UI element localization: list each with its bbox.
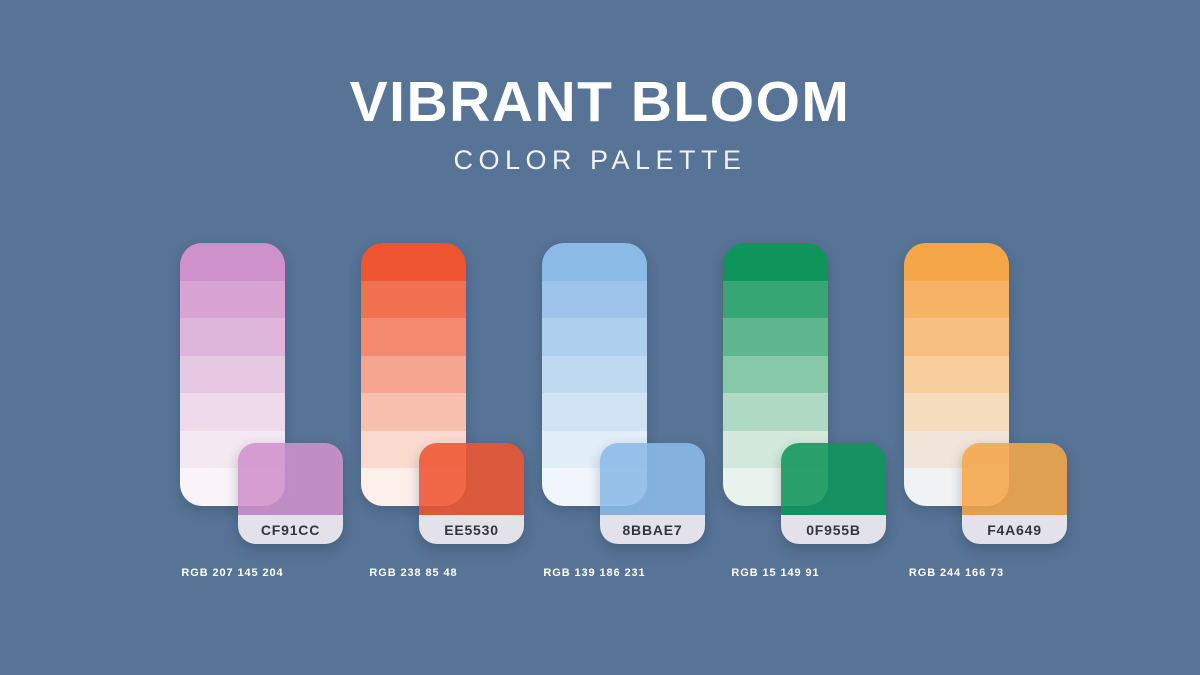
palette-column: F4A649RGB 244 166 73	[904, 243, 1085, 593]
gradient-band	[542, 393, 647, 431]
gradient-band	[542, 243, 647, 281]
gradient-band	[723, 356, 828, 394]
rgb-value-label: RGB 207 145 204	[162, 567, 303, 579]
palette-column: 8BBAE7RGB 139 186 231	[542, 243, 723, 593]
color-swatch[interactable]: 0F955B	[781, 443, 886, 544]
gradient-band	[361, 356, 466, 394]
rgb-value-label: RGB 139 186 231	[524, 567, 665, 579]
color-swatch[interactable]: EE5530	[419, 443, 524, 544]
color-swatch[interactable]: F4A649	[962, 443, 1067, 544]
gradient-band	[904, 281, 1009, 319]
swatch-color-chip	[238, 443, 343, 515]
gradient-band	[361, 243, 466, 281]
gradient-band	[904, 318, 1009, 356]
color-swatch[interactable]: CF91CC	[238, 443, 343, 544]
gradient-band	[723, 281, 828, 319]
palette-column: CF91CCRGB 207 145 204	[180, 243, 361, 593]
swatch-color-chip	[781, 443, 886, 515]
gradient-band	[723, 318, 828, 356]
gradient-band	[723, 243, 828, 281]
rgb-value-label: RGB 238 85 48	[343, 567, 484, 579]
hex-code-label: EE5530	[419, 515, 524, 544]
hex-code-label: F4A649	[962, 515, 1067, 544]
gradient-band	[904, 356, 1009, 394]
swatch-color-chip	[600, 443, 705, 515]
gradient-band	[361, 318, 466, 356]
palette-column: 0F955BRGB 15 149 91	[723, 243, 904, 593]
gradient-band	[180, 318, 285, 356]
hex-code-label: 0F955B	[781, 515, 886, 544]
gradient-band	[361, 393, 466, 431]
rgb-value-label: RGB 244 166 73	[886, 567, 1027, 579]
gradient-band	[180, 243, 285, 281]
gradient-band	[180, 393, 285, 431]
gradient-band	[180, 356, 285, 394]
gradient-band	[904, 393, 1009, 431]
rgb-value-label: RGB 15 149 91	[705, 567, 846, 579]
header: VIBRANT BLOOM COLOR PALETTE	[0, 0, 1200, 176]
swatch-color-chip	[419, 443, 524, 515]
gradient-band	[542, 356, 647, 394]
palette-column: EE5530RGB 238 85 48	[361, 243, 542, 593]
swatch-color-chip	[962, 443, 1067, 515]
gradient-band	[180, 281, 285, 319]
page-subtitle: COLOR PALETTE	[0, 145, 1200, 176]
gradient-band	[723, 393, 828, 431]
color-swatch[interactable]: 8BBAE7	[600, 443, 705, 544]
gradient-band	[542, 318, 647, 356]
gradient-band	[904, 243, 1009, 281]
palette-row: CF91CCRGB 207 145 204EE5530RGB 238 85 48…	[180, 243, 1110, 593]
gradient-band	[361, 281, 466, 319]
gradient-band	[542, 281, 647, 319]
hex-code-label: 8BBAE7	[600, 515, 705, 544]
hex-code-label: CF91CC	[238, 515, 343, 544]
page-title: VIBRANT BLOOM	[0, 74, 1200, 131]
